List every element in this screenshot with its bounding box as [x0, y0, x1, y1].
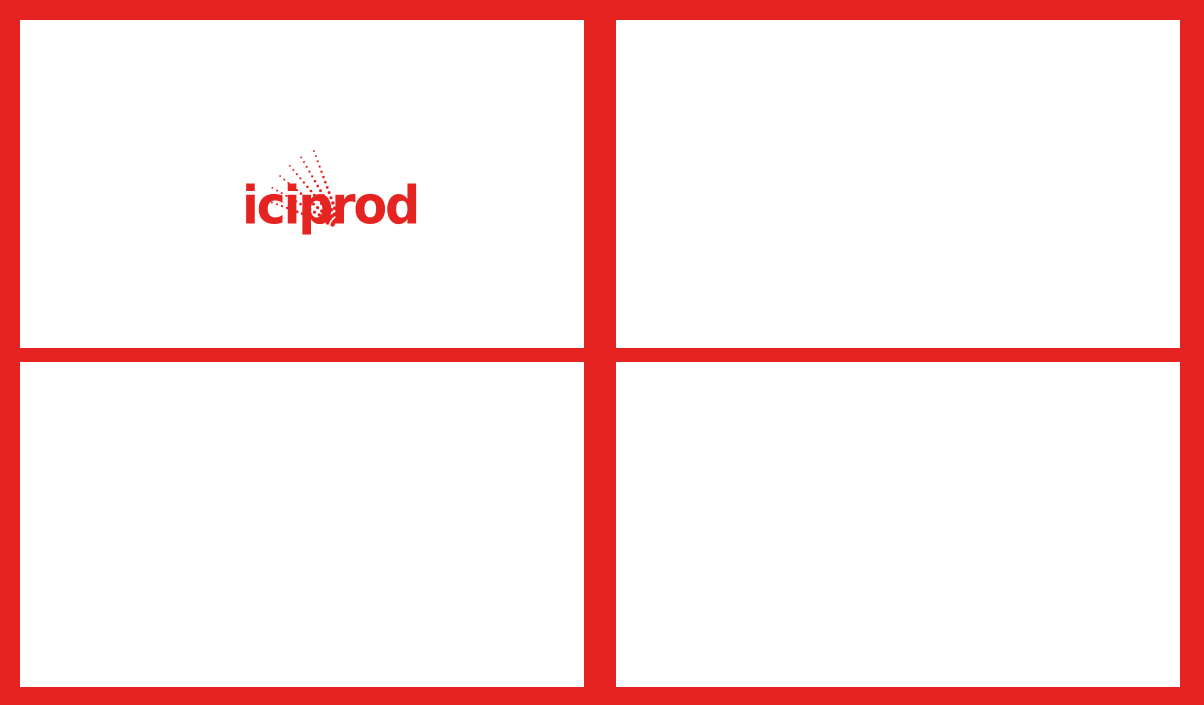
- wordmark-1: iciprod: [242, 180, 418, 232]
- logo-panel-3[interactable]: iciprod: [20, 362, 584, 687]
- logo-panel-2[interactable]: iciprod: [616, 20, 1180, 348]
- logo-panel-4[interactable]: LE COACHING AUTREMENT iciprod: [616, 362, 1180, 687]
- logo-sheet: iciprod iciprod iciprod LE COACHING AUTR…: [0, 0, 1204, 705]
- logo-panel-1[interactable]: iciprod: [20, 20, 584, 348]
